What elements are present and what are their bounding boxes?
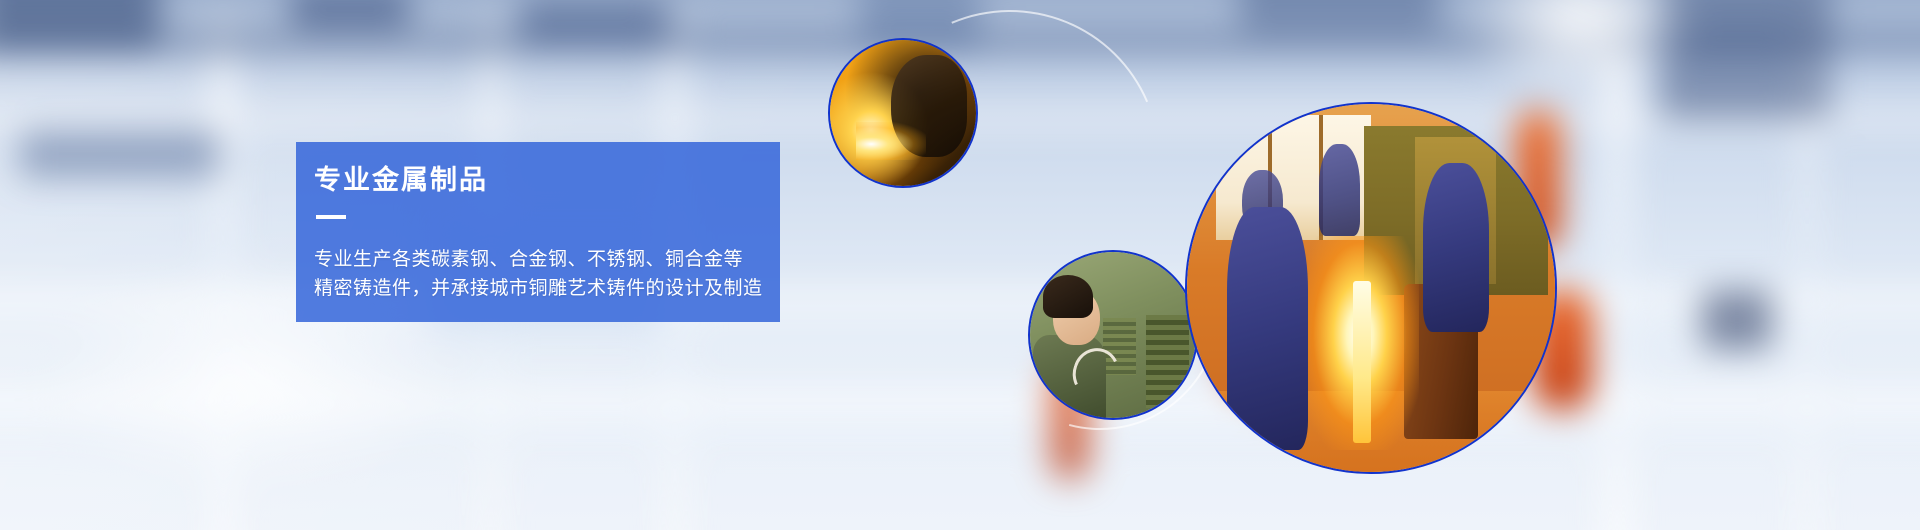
divider	[316, 215, 346, 219]
worker-foreground-left	[1227, 207, 1308, 450]
welding-photo	[828, 38, 978, 188]
weld-spark	[856, 122, 926, 160]
worker-foreground-right	[1423, 163, 1489, 332]
inspection-photo	[1028, 250, 1198, 420]
welding-photo-image	[830, 40, 976, 186]
headline-panel: 专业金属制品 专业生产各类碳素钢、合金钢、不锈钢、铜合金等 精密铸造件，并承接城…	[296, 142, 780, 322]
foundry-photo	[1185, 102, 1557, 474]
hero-banner: 专业金属制品 专业生产各类碳素钢、合金钢、不锈钢、铜合金等 精密铸造件，并承接城…	[0, 0, 1920, 530]
description-text: 专业生产各类碳素钢、合金钢、不锈钢、铜合金等 精密铸造件，并承接城市铜雕艺术铸件…	[314, 245, 780, 303]
foundry-photo-image	[1187, 104, 1555, 472]
casting-rack	[1146, 315, 1189, 408]
worker-background	[1319, 144, 1359, 236]
page-title: 专业金属制品	[314, 163, 780, 197]
molten-pour-stream	[1353, 281, 1371, 443]
inspection-photo-image	[1030, 252, 1196, 418]
worker-hair	[1043, 275, 1093, 318]
